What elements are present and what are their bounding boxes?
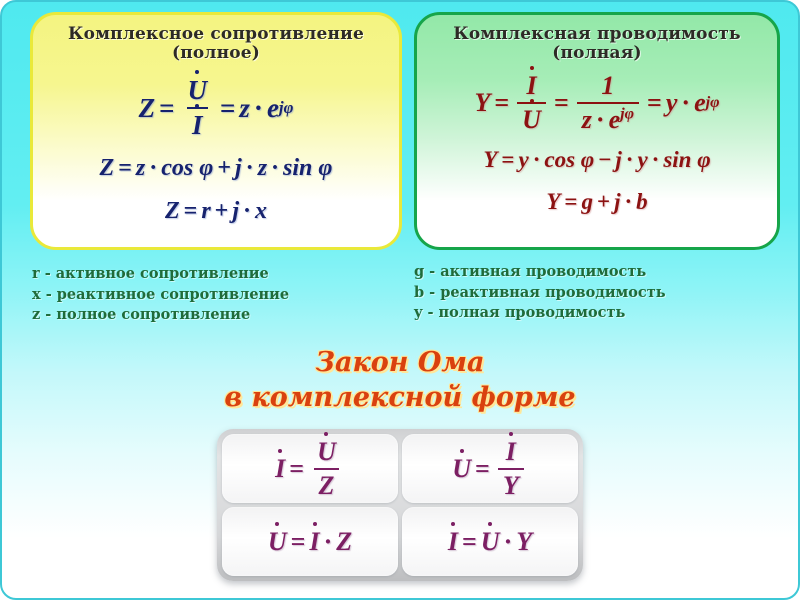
symbol-minus-1: − xyxy=(598,147,611,173)
symbol-Z-2: Z xyxy=(100,155,115,182)
symbol-dot-3: · xyxy=(246,155,254,182)
symbol-b: b xyxy=(636,189,648,215)
symbol-y-3: y xyxy=(637,147,647,173)
ohm-title-line2: в комплексной форме xyxy=(2,381,798,416)
symbol-I-dot-2: I xyxy=(522,71,542,102)
symbol-dot-6: · xyxy=(596,105,605,134)
legend-item-g: g - активная проводимость xyxy=(414,262,666,283)
admittance-panel: Комплексная проводимость (полная) Y = I … xyxy=(414,12,780,250)
symbol-r: r xyxy=(201,198,210,225)
fraction-U-over-Z: U Z xyxy=(312,437,341,501)
symbol-equals-11: = xyxy=(475,454,490,484)
symbol-Z: Z xyxy=(139,93,156,124)
symbol-j-2: j xyxy=(232,198,239,225)
symbol-equals: = xyxy=(159,93,174,124)
admittance-panel-title: Комплексная проводимость (полная) xyxy=(429,25,765,63)
symbol-U-dot-2: U xyxy=(517,102,546,135)
symbol-Z-5: Z xyxy=(336,527,352,557)
symbol-y: y xyxy=(666,88,678,118)
slide-canvas: Комплексное сопротивление (полное) Z = U… xyxy=(0,0,800,600)
impedance-title-line1: Комплексное сопротивление xyxy=(68,24,364,44)
symbol-equals-8: = xyxy=(501,147,514,173)
formula-admittance-algebraic: Y = g + j · b xyxy=(417,189,777,215)
formula-current-from-admittance: I = U · Y xyxy=(448,527,532,557)
fraction-voltage-over-current: U I xyxy=(183,75,213,141)
admittance-title-line2: (полная) xyxy=(429,44,765,63)
symbol-dot-4: · xyxy=(271,155,279,182)
symbol-e-2: e xyxy=(609,105,621,134)
symbol-dot-5: · xyxy=(243,198,251,225)
formula-admittance-trigonometric: Y = y · cos φ − j · y · sin φ xyxy=(417,147,777,173)
symbol-U-dot-3: U xyxy=(312,437,341,468)
symbol-U-dot-5: U xyxy=(268,527,287,557)
legend-item-z: z - полное сопротивление xyxy=(32,305,289,326)
symbol-sin: sin xyxy=(283,155,312,182)
symbol-plus-1: + xyxy=(217,155,231,182)
ohm-title-line1: Закон Ома xyxy=(315,347,484,378)
symbol-phi-4: φ xyxy=(697,147,710,173)
exponent-jphi: jφ xyxy=(279,98,293,118)
admittance-legend: g - активная проводимость b - реактивная… xyxy=(414,262,666,324)
symbol-phi-3: φ xyxy=(581,147,594,173)
formula-voltage-from-admittance: U = I Y xyxy=(452,437,528,501)
fraction-current-over-voltage: I U xyxy=(517,71,546,135)
symbol-dot-10: · xyxy=(652,147,660,173)
denominator-z-exp: z·ejφ xyxy=(577,102,639,135)
symbol-j-1: j xyxy=(235,155,242,182)
symbol-Y-2: Y xyxy=(483,147,497,173)
symbol-one: 1 xyxy=(596,71,619,102)
grid-cell-voltage-from-admittance: U = I Y xyxy=(402,434,578,503)
symbol-dot-12: · xyxy=(324,527,333,557)
symbol-I-dot-3: I xyxy=(275,454,285,484)
legend-item-x: x - реактивное сопротивление xyxy=(32,285,289,306)
formula-current-from-impedance: I = U Z xyxy=(275,437,345,501)
legend-item-b: b - реактивная проводимость xyxy=(414,283,666,304)
symbol-Y-3: Y xyxy=(546,189,560,215)
exponent-jphi-2: jφ xyxy=(620,105,634,122)
symbol-dot-8: · xyxy=(533,147,541,173)
symbol-I-dot: I xyxy=(187,107,208,141)
symbol-equals-3: = xyxy=(118,155,132,182)
symbol-cos-2: cos xyxy=(544,147,575,173)
grid-cell-voltage-from-impedance: U = I · Z xyxy=(222,507,398,576)
grid-cell-current-from-admittance: I = U · Y xyxy=(402,507,578,576)
symbol-U-dot-4: U xyxy=(452,454,471,484)
symbol-phi-2: φ xyxy=(318,155,332,182)
symbol-z-3: z xyxy=(258,155,267,182)
symbol-Y-5: Y xyxy=(516,527,532,557)
impedance-panel: Комплексное сопротивление (полное) Z = U… xyxy=(30,12,402,250)
symbol-dot-7: · xyxy=(681,88,690,118)
fraction-I-over-Y: I Y xyxy=(498,437,524,501)
symbol-z-4: z xyxy=(582,105,592,134)
symbol-j-4: j xyxy=(614,189,620,215)
symbol-Z-4: Z xyxy=(314,468,340,501)
symbol-plus-3: + xyxy=(597,189,610,215)
legend-item-y: y - полная проводимость xyxy=(414,303,666,324)
exponent-jphi-3: jφ xyxy=(706,94,720,112)
symbol-U-dot-6: U xyxy=(481,527,500,557)
symbol-x: x xyxy=(255,198,267,225)
symbol-U-dot: U xyxy=(183,75,213,107)
admittance-title-line1: Комплексная проводимость xyxy=(453,24,740,44)
symbol-equals-5: = xyxy=(494,88,509,118)
symbol-z-2: z xyxy=(136,155,145,182)
formula-admittance-exponential: Y = I U = 1 z·ejφ = y · e jφ xyxy=(417,71,777,135)
symbol-z: z xyxy=(239,93,250,124)
symbol-y-2: y xyxy=(518,147,528,173)
symbol-equals-7: = xyxy=(647,88,662,118)
symbol-e: e xyxy=(267,93,279,124)
symbol-Z-3: Z xyxy=(165,198,180,225)
symbol-dot-11: · xyxy=(625,189,633,215)
symbol-equals-6: = xyxy=(554,88,569,118)
symbol-equals-2: = xyxy=(220,93,235,124)
symbol-equals-13: = xyxy=(462,527,477,557)
symbol-dot-9: · xyxy=(626,147,634,173)
legend-item-r: r - активное сопротивление xyxy=(32,264,289,285)
symbol-dot-2: · xyxy=(149,155,157,182)
symbol-I-dot-5: I xyxy=(309,527,319,557)
formula-impedance-exponential: Z = U I = z · e jφ xyxy=(33,75,399,141)
symbol-I-dot-4: I xyxy=(501,437,521,468)
symbol-equals-4: = xyxy=(184,198,198,225)
impedance-panel-title: Комплексное сопротивление (полное) xyxy=(45,25,387,63)
symbol-phi-1: φ xyxy=(199,155,213,182)
formula-impedance-trigonometric: Z = z · cos φ + j · z · sin φ xyxy=(33,155,399,182)
symbol-dot-13: · xyxy=(504,527,513,557)
symbol-I-dot-6: I xyxy=(448,527,458,557)
impedance-title-line2: (полное) xyxy=(45,44,387,63)
symbol-equals-12: = xyxy=(291,527,306,557)
formula-voltage-from-impedance: U = I · Z xyxy=(268,527,352,557)
symbol-equals-9: = xyxy=(564,189,577,215)
symbol-sin-2: sin xyxy=(663,147,691,173)
formula-impedance-algebraic: Z = r + j · x xyxy=(33,198,399,225)
impedance-legend: r - активное сопротивление x - реактивно… xyxy=(32,264,289,326)
ohm-law-title: Закон Ома в комплексной форме xyxy=(2,346,798,415)
symbol-Y: Y xyxy=(474,88,490,118)
fraction-one-over-impedance: 1 z·ejφ xyxy=(577,71,639,135)
symbol-e-3: e xyxy=(694,88,706,118)
symbol-g: g xyxy=(582,189,594,215)
ohm-law-formula-grid: I = U Z U = I Y U = I xyxy=(217,429,583,581)
grid-cell-current-from-impedance: I = U Z xyxy=(222,434,398,503)
symbol-dot-1: · xyxy=(254,93,263,124)
symbol-equals-10: = xyxy=(289,454,304,484)
symbol-Y-4: Y xyxy=(498,468,524,501)
symbol-cos: cos xyxy=(161,155,193,182)
symbol-plus-2: + xyxy=(215,198,229,225)
symbol-j-3: j xyxy=(615,147,621,173)
